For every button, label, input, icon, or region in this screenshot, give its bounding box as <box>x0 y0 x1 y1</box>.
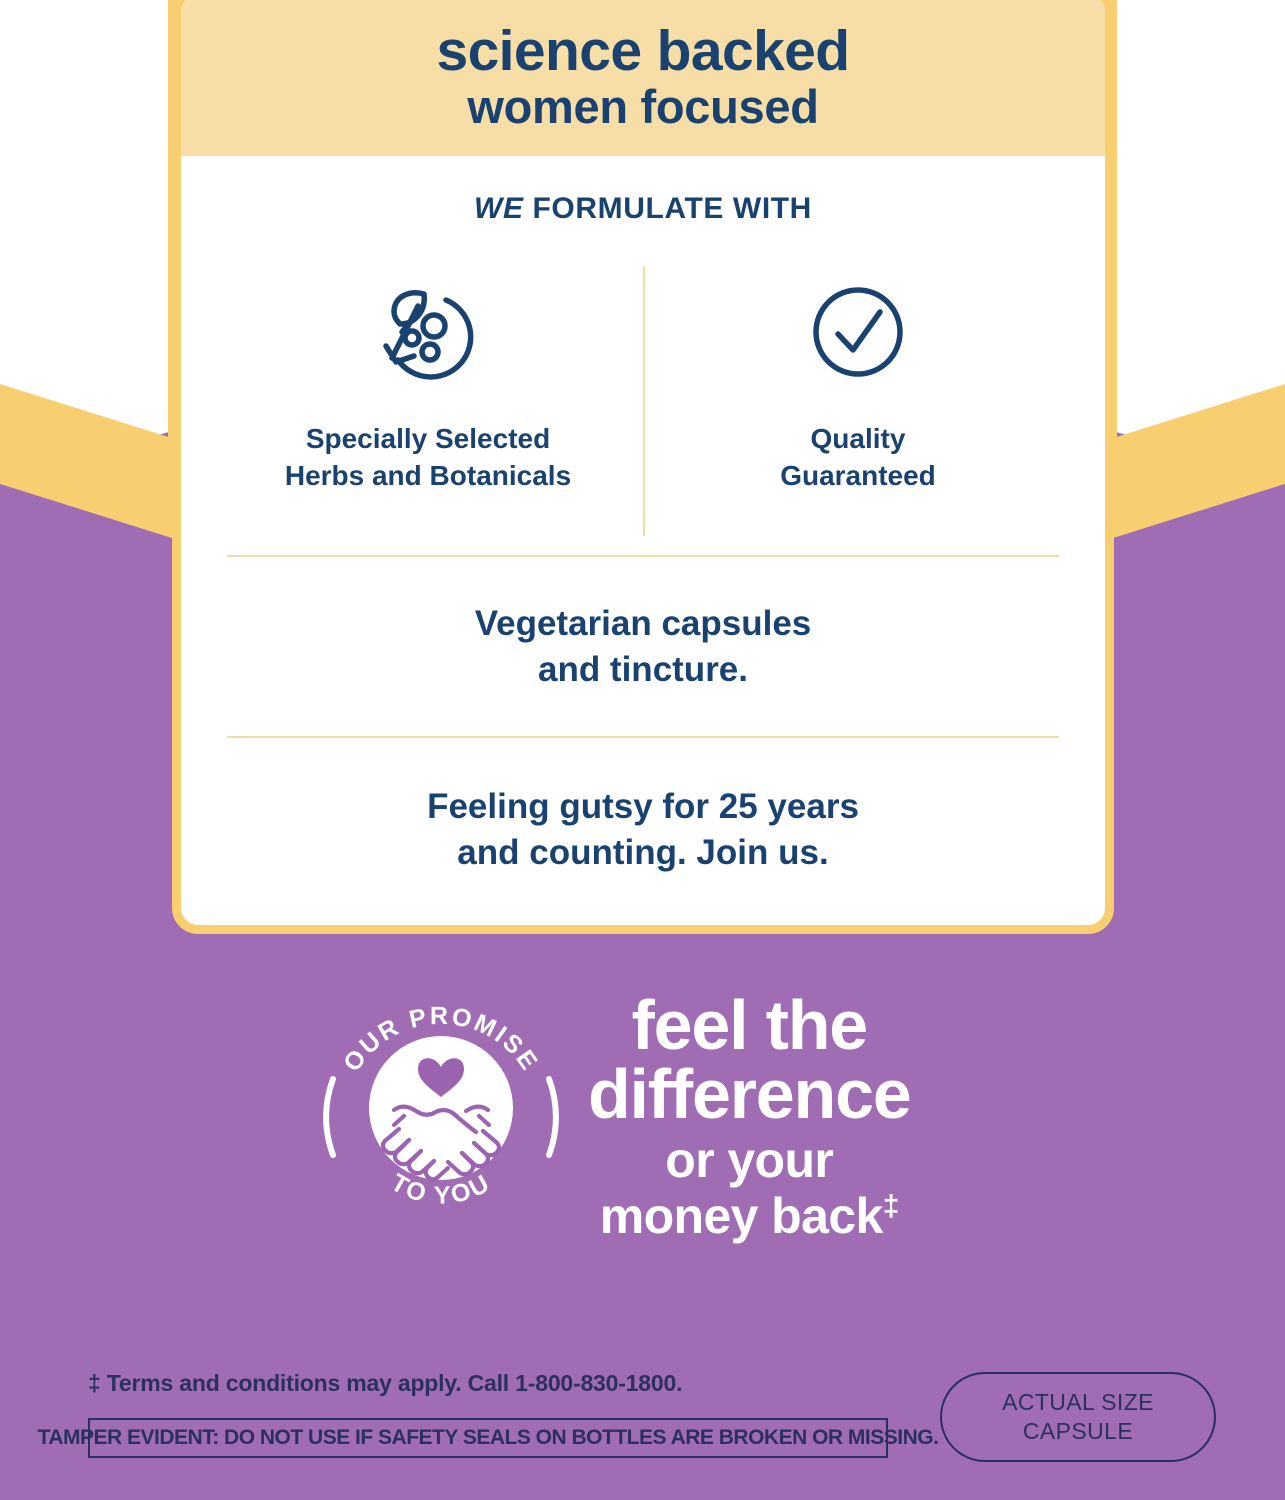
feature-quality: Quality Guaranteed <box>643 274 1073 494</box>
vegetarian-line1: Vegetarian capsules <box>213 601 1073 648</box>
seal-arc-left <box>326 1079 333 1155</box>
formulate-label: WE FORMULATE WITH <box>213 192 1073 226</box>
heritage-line1: Feeling gutsy for 25 years <box>213 784 1073 831</box>
actual-size-capsule-badge: ACTUAL SIZE CAPSULE <box>940 1372 1216 1462</box>
feature-quality-line2: Guaranteed <box>657 457 1059 494</box>
guarantee-line4: money back <box>600 1188 883 1244</box>
vegetarian-line2: and tincture. <box>213 647 1073 694</box>
feature-quality-label: Quality Guaranteed <box>657 420 1059 494</box>
formulate-emphasis: WE <box>474 192 524 225</box>
headline-primary: science backed <box>181 21 1105 81</box>
headline-secondary: women focused <box>181 81 1105 134</box>
promise-seal: OUR PROMISE TO YOU <box>316 985 566 1235</box>
top-right-white <box>1117 0 1285 380</box>
guarantee-line2: difference <box>588 1060 911 1129</box>
info-card: science backed women focused WE FORMULAT… <box>172 0 1114 934</box>
feature-herbs-line2: Herbs and Botanicals <box>227 457 629 494</box>
feature-herbs: Specially Selected Herbs and Botanicals <box>213 274 643 494</box>
card-body: WE FORMULATE WITH <box>181 192 1105 877</box>
guarantee-line3: or your <box>588 1134 911 1187</box>
guarantee-footnote-marker: ‡ <box>883 1189 899 1222</box>
terms-text: ‡ Terms and conditions may apply. Call 1… <box>88 1370 682 1397</box>
feature-quality-line1: Quality <box>657 420 1059 457</box>
tamper-evident-box: TAMPER EVIDENT: DO NOT USE IF SAFETY SEA… <box>88 1418 888 1458</box>
capsule-badge-line2: CAPSULE <box>1023 1417 1133 1446</box>
card-header: science backed women focused <box>181 0 1105 156</box>
seal-disc <box>369 1036 513 1180</box>
feature-herbs-line1: Specially Selected <box>227 420 629 457</box>
package-panel: science backed women focused WE FORMULAT… <box>0 0 1285 1500</box>
feature-columns: Specially Selected Herbs and Botanicals … <box>213 274 1073 494</box>
column-divider <box>643 266 645 536</box>
formulate-rest: FORMULATE WITH <box>524 192 812 225</box>
herb-botanical-icon <box>227 274 629 390</box>
tamper-evident-text: TAMPER EVIDENT: DO NOT USE IF SAFETY SEA… <box>38 1426 939 1450</box>
seal-arc-right <box>549 1079 556 1155</box>
guarantee-line1: feel the <box>588 991 911 1060</box>
check-circle-icon <box>657 274 1059 390</box>
capsule-badge-line1: ACTUAL SIZE <box>1002 1388 1154 1417</box>
vegetarian-statement: Vegetarian capsules and tincture. <box>213 557 1073 736</box>
heritage-statement: Feeling gutsy for 25 years and counting.… <box>213 738 1073 877</box>
guarantee-line4-wrap: money back‡ <box>588 1190 911 1243</box>
promise-section: OUR PROMISE TO YOU feel the difference o… <box>0 985 1285 1285</box>
top-left-white <box>0 0 168 380</box>
feature-herbs-label: Specially Selected Herbs and Botanicals <box>227 420 629 494</box>
guarantee-text: feel the difference or your money back‡ <box>588 985 911 1243</box>
heritage-line2: and counting. Join us. <box>213 830 1073 877</box>
